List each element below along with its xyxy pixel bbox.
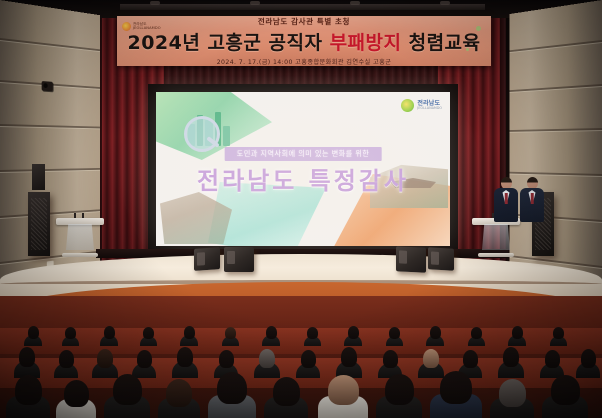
audience-head — [104, 326, 115, 339]
speaker-official — [520, 177, 544, 222]
audience-head — [512, 326, 523, 339]
banner-details: 2024. 7. 17.(금) 14:00 고흥종합문화회관 김연수실 고흥군 — [217, 57, 392, 66]
audience-head — [545, 350, 560, 368]
audience-head — [423, 349, 439, 368]
audience-head — [389, 327, 400, 339]
banner-title-post: 청렴교육 — [401, 32, 480, 54]
slide-logo-roman: JEOLLANAMDO — [417, 107, 442, 110]
ceiling-light — [440, 1, 450, 5]
slide-subtitle: 도민과 지역사회에 의미 있는 변화를 위한 — [225, 147, 382, 161]
audience-head — [440, 371, 472, 404]
floor-monitor — [396, 246, 426, 273]
banner-title-pre: 2024년 고흥군 공직자 — [127, 32, 329, 54]
ceiling-light — [150, 1, 160, 5]
audience-head — [225, 327, 236, 339]
audience-head — [273, 377, 300, 406]
ceiling-light — [350, 1, 360, 5]
audience-head — [259, 349, 275, 368]
speaker-presenter — [494, 177, 518, 222]
audience-head — [499, 379, 526, 407]
slide-logo: 전라남도 JEOLLANAMDO — [401, 99, 442, 112]
tower-speaker-small-left — [32, 164, 45, 190]
wall-speaker-icon — [42, 81, 53, 91]
audience-head — [581, 349, 596, 368]
jeonnam-logo-icon — [401, 99, 414, 112]
audience-head — [266, 326, 277, 339]
audience-head — [385, 374, 414, 405]
auditorium-photo: 전라남도 JEOLLANAMDO 전라남도 감사관 특별 초청 2024년 고흥… — [0, 0, 602, 418]
audience-head — [383, 350, 398, 368]
floor-monitor — [194, 247, 220, 271]
audience-head — [341, 347, 357, 367]
audience-head — [19, 347, 35, 367]
podium-right — [476, 218, 516, 254]
audience-head — [137, 350, 152, 368]
floor-monitor — [224, 247, 254, 272]
ceiling-light — [250, 1, 260, 5]
audience-head — [184, 326, 195, 339]
audience-head — [113, 374, 142, 405]
podium-left — [60, 218, 100, 254]
audience-head — [463, 350, 478, 368]
audience-head — [28, 326, 39, 339]
audience-head — [430, 326, 441, 339]
audience-head — [219, 350, 234, 368]
audience-head — [217, 372, 247, 404]
wall-right — [509, 0, 602, 300]
audience-area — [0, 296, 602, 418]
audience-head — [59, 350, 74, 368]
audience-head — [471, 327, 482, 339]
slide-title: 전라남도 특정감사 — [197, 161, 409, 196]
audience-head — [348, 326, 359, 339]
audience-head — [503, 347, 519, 367]
ceiling-beam — [120, 4, 485, 10]
audience-head — [97, 349, 113, 368]
audience-head — [553, 327, 564, 339]
audience-head — [551, 375, 580, 405]
audience-head — [64, 380, 89, 407]
audience-head — [177, 347, 193, 367]
event-banner: 전라남도 JEOLLANAMDO 전라남도 감사관 특별 초청 2024년 고흥… — [117, 16, 491, 66]
audience-head — [307, 327, 318, 339]
audience-head — [15, 375, 42, 405]
magnifier-icon — [184, 116, 220, 152]
audience-head — [328, 375, 359, 405]
banner-title-highlight: 부패방지 — [330, 32, 402, 54]
audience-head — [301, 350, 316, 368]
audience-head — [143, 327, 154, 339]
audience-head — [65, 327, 76, 339]
projection-screen: 전라남도 JEOLLANAMDO 도민과 지역사회에 의미 있는 변화를 위한 … — [156, 92, 450, 246]
audience-head — [166, 379, 192, 407]
banner-subtitle-top: 전라남도 감사관 특별 초청 — [258, 16, 350, 27]
banner-title: 2024년 고흥군 공직자 부패방지 청렴교육 — [127, 28, 480, 55]
floor-monitor — [428, 247, 454, 270]
tower-speaker-left — [28, 192, 50, 256]
